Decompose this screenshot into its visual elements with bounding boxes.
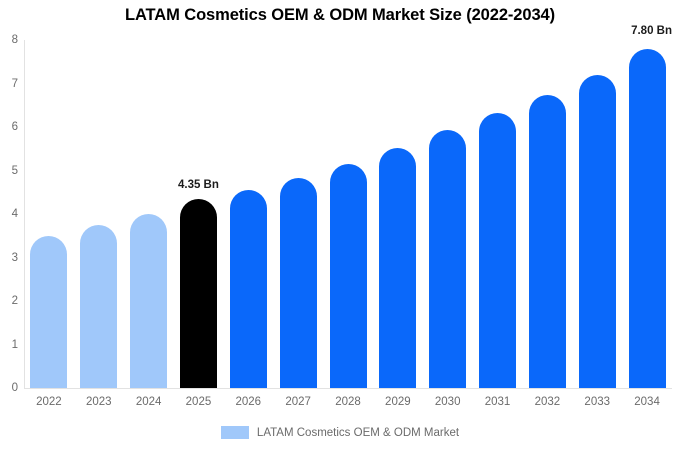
bar-rect[interactable] — [80, 225, 117, 388]
y-axis-tick-label: 2 — [0, 295, 18, 307]
bar-2027[interactable] — [280, 40, 317, 388]
y-axis-tick-label: 0 — [0, 382, 18, 394]
bar-2026[interactable] — [230, 40, 267, 388]
chart-legend: LATAM Cosmetics OEM & ODM Market — [0, 426, 680, 439]
value-label-2034: 7.80 Bn — [631, 25, 672, 37]
y-axis-tick-label: 6 — [0, 121, 18, 133]
bar-2031[interactable] — [479, 40, 516, 388]
x-axis-line — [24, 388, 672, 389]
bar-rect[interactable] — [330, 164, 367, 388]
legend-label: LATAM Cosmetics OEM & ODM Market — [257, 427, 459, 439]
bar-2022[interactable] — [30, 40, 67, 388]
bar-rect[interactable] — [230, 190, 267, 388]
legend-swatch-icon — [221, 426, 249, 439]
bar-rect[interactable] — [379, 148, 416, 388]
y-axis-tick-label: 1 — [0, 339, 18, 351]
y-axis-tick-label: 3 — [0, 252, 18, 264]
bar-2029[interactable] — [379, 40, 416, 388]
bar-rect[interactable] — [130, 214, 167, 388]
bar-rect[interactable] — [479, 113, 516, 388]
chart-title: LATAM Cosmetics OEM & ODM Market Size (2… — [0, 6, 680, 25]
bar-2028[interactable] — [330, 40, 367, 388]
y-axis-tick-label: 4 — [0, 208, 18, 220]
bar-rect[interactable] — [30, 236, 67, 388]
bar-2030[interactable] — [429, 40, 466, 388]
bar-2032[interactable] — [529, 40, 566, 388]
bar-2033[interactable] — [579, 40, 616, 388]
value-label-2025: 4.35 Bn — [158, 179, 238, 191]
plot-area — [24, 40, 672, 388]
bar-chart: LATAM Cosmetics OEM & ODM Market Size (2… — [0, 0, 680, 450]
bar-2024[interactable] — [130, 40, 167, 388]
bar-2034[interactable] — [629, 40, 666, 388]
bar-2025[interactable] — [180, 40, 217, 388]
y-axis-tick-label: 8 — [0, 34, 18, 46]
bar-rect[interactable] — [529, 95, 566, 388]
x-axis-tick-label: 2034 — [617, 396, 677, 408]
y-axis-tick-label: 5 — [0, 165, 18, 177]
bar-rect[interactable] — [579, 75, 616, 388]
bar-rect[interactable] — [429, 130, 466, 388]
y-axis-tick-label: 7 — [0, 78, 18, 90]
bar-rect[interactable] — [629, 49, 666, 388]
bar-rect[interactable] — [180, 199, 217, 388]
bar-2023[interactable] — [80, 40, 117, 388]
bar-rect[interactable] — [280, 178, 317, 388]
